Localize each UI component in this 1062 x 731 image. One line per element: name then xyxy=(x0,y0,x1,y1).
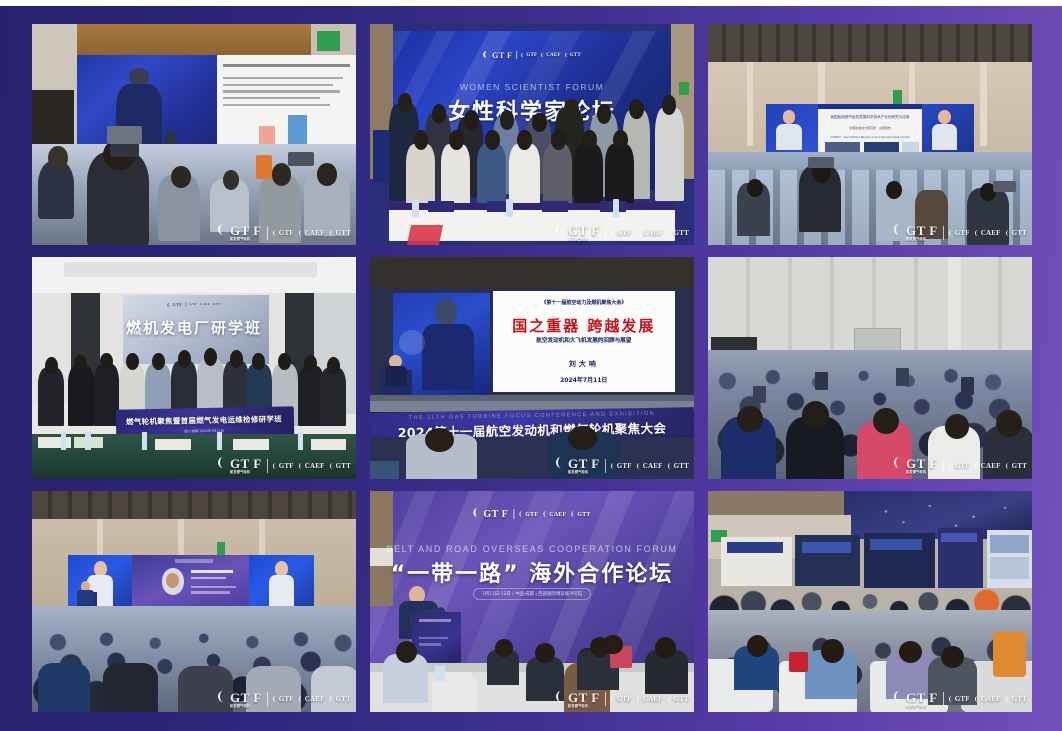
partner-logo-2: GTT xyxy=(1006,462,1027,470)
gtf-logo-subtext: 航发燃气轮机 xyxy=(568,471,600,474)
logo-divider xyxy=(605,692,606,706)
belt-road-date-venue: 7月11日-12日 | 中国·成都 | 西部国际博览城·9号馆 xyxy=(473,588,591,600)
gtf-logo-subtext: 航发燃气轮机 xyxy=(906,705,938,708)
gtf-swoosh-icon xyxy=(894,457,904,468)
logo-divider xyxy=(267,692,268,706)
gtf-swoosh-icon xyxy=(556,457,566,468)
partner-logo-0: GTF xyxy=(949,695,970,703)
partner-logo-2: GTT xyxy=(1006,229,1027,237)
gtf-logo-main: GT F 航发燃气轮机 xyxy=(218,457,262,474)
logo-divider xyxy=(267,226,268,240)
partner-logo-2: GTT xyxy=(668,462,689,470)
training-screen-title: 燃机发电厂研学班 xyxy=(126,317,262,338)
partner-logo-2: GTT xyxy=(330,695,351,703)
belt-road-cn-title: “一带一路” 海外合作论坛 xyxy=(391,556,674,588)
partner-logo-0: GTF xyxy=(949,229,970,237)
gtf-logo-lockup: GT F 航发燃气轮机 GTF CAEF GTT xyxy=(894,224,1027,241)
logo-divider xyxy=(267,459,268,473)
gtf-logo-lockup: GT F 航发燃气轮机 GTF CAEF GTT xyxy=(218,224,351,241)
gtf-logo-lockup: GT F 航发燃气轮机 GTF CAEF GTT xyxy=(218,457,351,474)
gtf-swoosh-icon xyxy=(218,691,228,702)
partner-logo-0: GTF xyxy=(949,462,970,470)
partner-logo-2: GTT xyxy=(668,695,689,703)
gtf-swoosh-icon xyxy=(556,224,566,235)
gtf-logo-text: GT F xyxy=(906,690,938,705)
gtf-logo-main: GT F 航发燃气轮机 xyxy=(218,224,262,241)
partner-logo-1: CAEF xyxy=(975,462,1001,470)
photo-exhibition-audience[interactable]: GT F 航发燃气轮机 GTF CAEF GTT xyxy=(708,491,1032,712)
partner-logo-0: GTF xyxy=(611,462,632,470)
gtf-logo-main: GT F 航发燃气轮机 xyxy=(556,691,600,708)
partner-logo-0: GTF xyxy=(273,462,294,470)
partner-logo-1: CAEF xyxy=(637,229,663,237)
gtf-logo-text: GT F xyxy=(230,223,262,238)
gtf-swoosh-icon xyxy=(218,457,228,468)
forum-en-title: WOMEN SCIENTIST FORUM xyxy=(460,82,604,92)
logo-divider xyxy=(943,459,944,473)
partner-logo-1: CAEF xyxy=(299,462,325,470)
gtf-logo-subtext: 航发燃气轮机 xyxy=(568,238,600,241)
gtf-swoosh-icon xyxy=(218,224,228,235)
partner-logo-2: GTT xyxy=(668,229,689,237)
lecture-date: 2024年7月11日 xyxy=(560,375,607,384)
gtf-swoosh-icon xyxy=(894,224,904,235)
gtf-logo-lockup: GT F 航发燃气轮机 GTF CAEF GTT xyxy=(556,691,689,708)
partner-logo-2: GTT xyxy=(1006,695,1027,703)
gtf-logo-subtext: 航发燃气轮机 xyxy=(230,238,262,241)
gtf-logo-text: GT F xyxy=(230,690,262,705)
gtf-logo-lockup: GT F 航发燃气轮机 GTF CAEF GTT xyxy=(894,691,1027,708)
gtf-logo-subtext: 航发燃气轮机 xyxy=(906,238,938,241)
photo-women-scientist-forum[interactable]: WOMEN SCIENTIST FORUM 女性科学家论坛 GT F GTF C… xyxy=(370,24,694,245)
gtf-logo-main: GT F 航发燃气轮机 xyxy=(894,691,938,708)
poster-canvas: GT F 航发燃气轮机 GTF CAEF GTT WOMEN SCI xyxy=(0,0,1062,731)
partner-logo-2: GTT xyxy=(330,229,351,237)
gtf-logo-subtext: 航发燃气轮机 xyxy=(568,705,600,708)
partner-logo-0: GTF xyxy=(611,695,632,703)
gtf-logo-main: GT F 航发燃气轮机 xyxy=(218,691,262,708)
gtf-logo-lockup: GT F 航发燃气轮机 GTF CAEF GTT xyxy=(218,691,351,708)
photo-audience-phones[interactable]: GT F 航发燃气轮机 GTF CAEF GTT xyxy=(708,257,1032,478)
gtf-swoosh-icon xyxy=(894,691,904,702)
partner-logo-1: CAEF xyxy=(975,695,1001,703)
gtf-logo-main: GT F 航发燃气轮机 xyxy=(556,224,600,241)
hall-slide-org: 中国航发动力研究所 · 主题报告 xyxy=(849,126,891,130)
logo-divider xyxy=(943,692,944,706)
photo-main-hall-wide[interactable]: 我国船用燃气轮机发展科学技术产业化研究与应用 中国航发动力研究所 · 主题报告 … xyxy=(708,24,1032,245)
partner-logo-1: CAEF xyxy=(299,695,325,703)
partner-logo-0: GTF xyxy=(273,229,294,237)
logo-divider xyxy=(605,459,606,473)
partner-logo-1: CAEF xyxy=(637,695,663,703)
gtf-swoosh-icon xyxy=(556,691,566,702)
training-banner-text: 燃气轮机聚焦暨首届燃气发电运维检修研学班 xyxy=(126,413,282,427)
partner-logo-1: CAEF xyxy=(637,462,663,470)
gtf-logo-lockup: GT F 航发燃气轮机 GTF CAEF GTT xyxy=(556,224,689,241)
partner-logo-1: CAEF xyxy=(975,229,1001,237)
lecture-bracket-line: 《第十一届航空动力及燃机聚焦大会》 xyxy=(541,299,626,306)
partner-logo-1: CAEF xyxy=(299,229,325,237)
logo-divider xyxy=(605,226,606,240)
gtf-logo-lockup: GT F 航发燃气轮机 GTF CAEF GTT xyxy=(556,457,689,474)
gtf-logo-lockup: GT F 航发燃气轮机 GTF CAEF GTT xyxy=(894,457,1027,474)
gtf-logo-text: GT F xyxy=(906,223,938,238)
gtf-logo-subtext: 航发燃气轮机 xyxy=(230,705,262,708)
lecture-headline: 国之重器 跨越发展 xyxy=(512,315,655,336)
photo-liu-daxiang-lecture[interactable]: 《第十一届航空动力及燃机聚焦大会》 国之重器 跨越发展 航空发动机和大飞机发展的… xyxy=(370,257,694,478)
partner-logo-0: GTF xyxy=(611,229,632,237)
belt-road-en-title: BELT AND ROAD OVERSEAS COOPERATION FORUM xyxy=(386,544,677,554)
partner-logo-0: GTF xyxy=(273,695,294,703)
lecture-speaker: 刘大响 xyxy=(569,359,599,369)
logo-divider xyxy=(943,226,944,240)
partner-logo-2: GTT xyxy=(330,462,351,470)
gtf-logo-subtext: 航发燃气轮机 xyxy=(906,471,938,474)
photo-keynote-presentation[interactable]: GT F 航发燃气轮机 GTF CAEF GTT xyxy=(32,24,356,245)
gtf-logo-main: GT F 航发燃气轮机 xyxy=(556,457,600,474)
photo-belt-and-road-forum[interactable]: GT F GTF CAEF GTT BELT AND ROAD OVERSEAS… xyxy=(370,491,694,712)
gtf-logo-main: GT F 航发燃气轮机 xyxy=(894,224,938,241)
photo-training-class-group[interactable]: GTF GTF CAEF GTT 燃机发电厂研学班 xyxy=(32,257,356,478)
hall-slide-heading: 我国船用燃气轮机发展科学技术产业化研究与应用 xyxy=(830,115,909,120)
gtf-logo-main: GT F 航发燃气轮机 xyxy=(894,457,938,474)
gtf-logo-text: GT F xyxy=(568,223,600,238)
gtf-logo-text: GT F xyxy=(568,690,600,705)
hall-slide-en: CAMCO · Gas Turbine Research and Develop… xyxy=(830,135,909,139)
photo-grid: GT F 航发燃气轮机 GTF CAEF GTT WOMEN SCI xyxy=(32,24,1032,712)
lecture-subhead: 航空发动机和大飞机发展的回顾与展望 xyxy=(536,336,631,344)
gtf-logo-subtext: 航发燃气轮机 xyxy=(230,471,262,474)
photo-plenary-session[interactable]: GT F 航发燃气轮机 GTF CAEF GTT xyxy=(32,491,356,712)
